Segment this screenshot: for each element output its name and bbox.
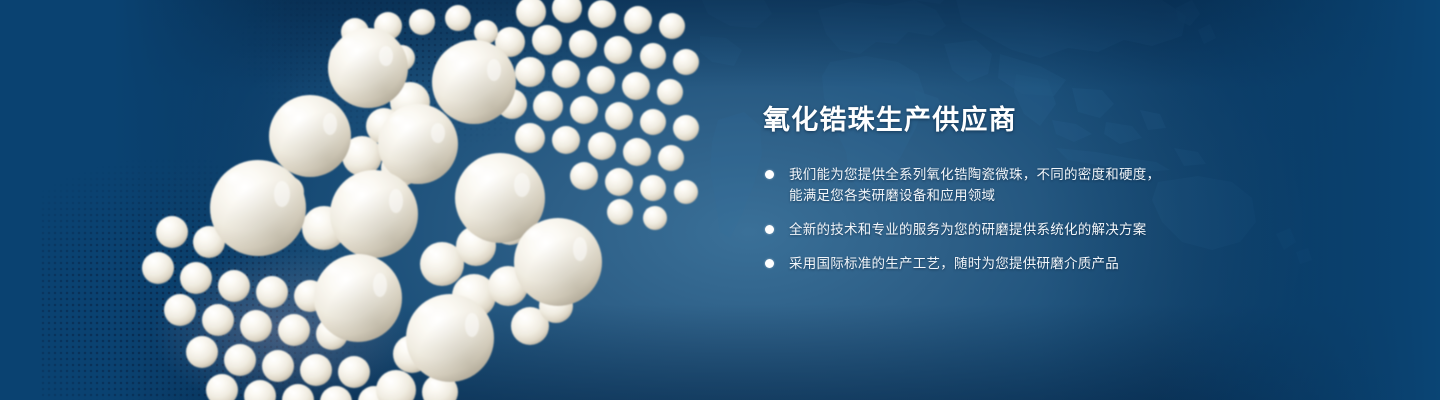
bullet-dot-icon	[765, 259, 774, 268]
banner-left-shade	[0, 0, 300, 400]
banner-text-block: 氧化锆珠生产供应商 我们能为您提供全系列氧化锆陶瓷微珠，不同的密度和硬度， 能满…	[763, 104, 1323, 274]
bullet-line-1: 我们能为您提供全系列氧化锆陶瓷微珠，不同的密度和硬度，	[789, 164, 1323, 185]
bullet-line-1: 全新的技术和专业的服务为您的研磨提供系统化的解决方案	[789, 219, 1323, 240]
list-item: 我们能为您提供全系列氧化锆陶瓷微珠，不同的密度和硬度， 能满足您各类研磨设备和应…	[763, 164, 1323, 206]
promo-banner: 氧化锆珠生产供应商 我们能为您提供全系列氧化锆陶瓷微珠，不同的密度和硬度， 能满…	[0, 0, 1440, 400]
bullet-line-2: 能满足您各类研磨设备和应用领域	[789, 185, 1323, 206]
list-item: 采用国际标准的生产工艺，随时为您提供研磨介质产品	[763, 253, 1323, 274]
feature-bullet-list: 我们能为您提供全系列氧化锆陶瓷微珠，不同的密度和硬度， 能满足您各类研磨设备和应…	[763, 164, 1323, 274]
bullet-dot-icon	[765, 170, 774, 179]
list-item: 全新的技术和专业的服务为您的研磨提供系统化的解决方案	[763, 219, 1323, 240]
bullet-dot-icon	[765, 225, 774, 234]
page-title: 氧化锆珠生产供应商	[763, 104, 1323, 136]
bullet-line-1: 采用国际标准的生产工艺，随时为您提供研磨介质产品	[789, 253, 1323, 274]
